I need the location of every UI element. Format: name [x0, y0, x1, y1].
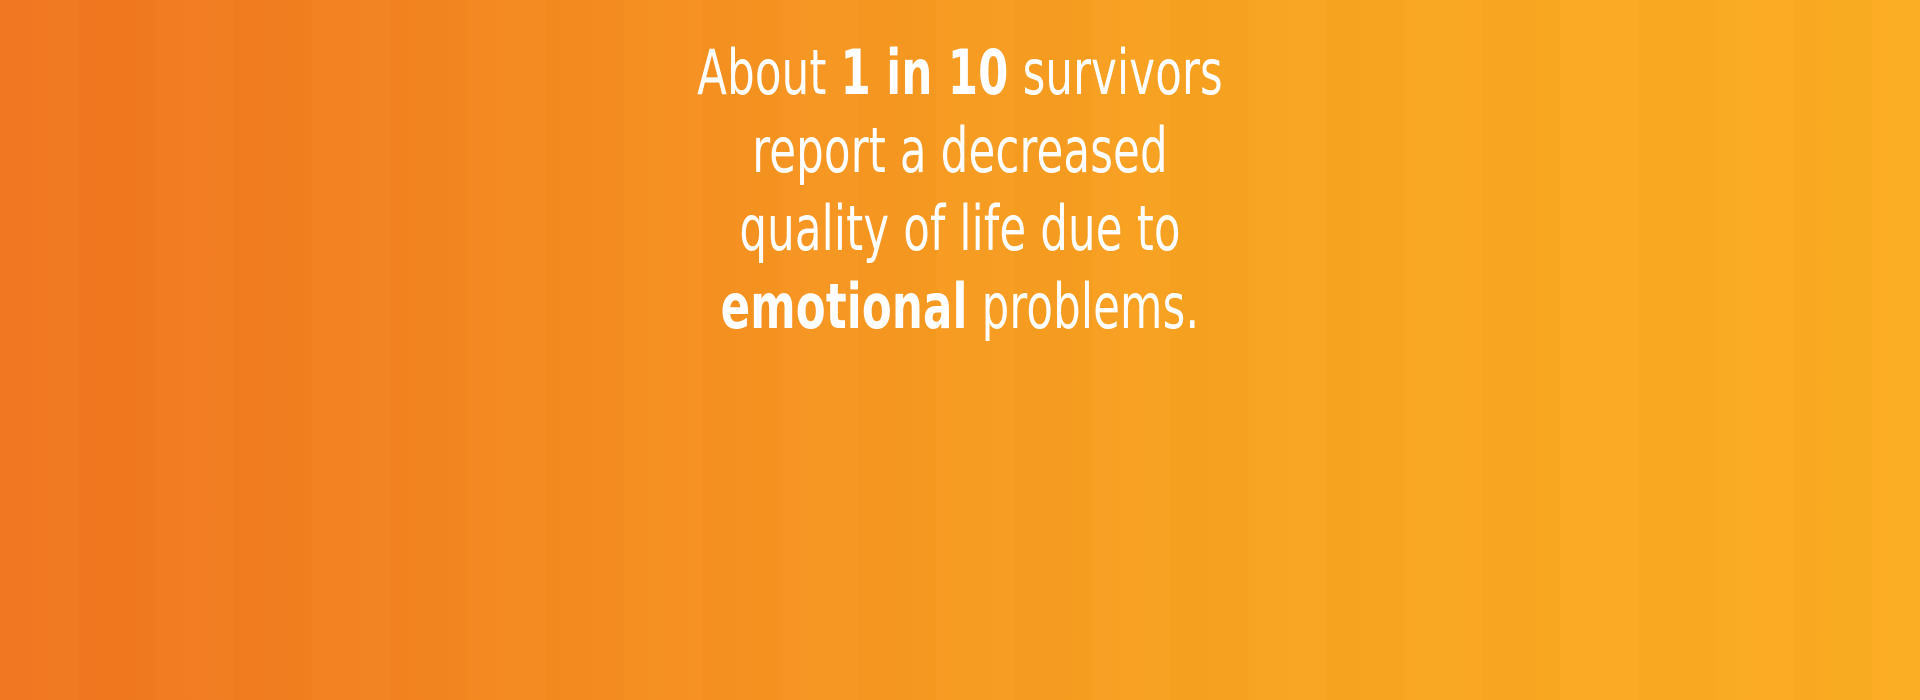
- statement-segment: report a decreased: [752, 114, 1168, 187]
- statement-segment: problems.: [968, 270, 1200, 343]
- statement-line-3: quality of life due to: [211, 190, 1709, 268]
- statement-emphasis: 1 in 10: [841, 36, 1009, 109]
- statement-segment: survivors: [1009, 36, 1223, 109]
- statement-segment: quality of life due to: [739, 192, 1180, 265]
- statement-line-1: About 1 in 10 survivors: [211, 34, 1709, 112]
- statement-emphasis: emotional: [721, 270, 968, 343]
- statement-line-2: report a decreased: [211, 112, 1709, 190]
- statistic-statement: About 1 in 10 survivors report a decreas…: [0, 34, 1920, 346]
- statement-segment: About: [697, 36, 840, 109]
- statement-line-4: emotional problems.: [211, 268, 1709, 346]
- statistic-callout-slide: About 1 in 10 survivors report a decreas…: [0, 0, 1920, 700]
